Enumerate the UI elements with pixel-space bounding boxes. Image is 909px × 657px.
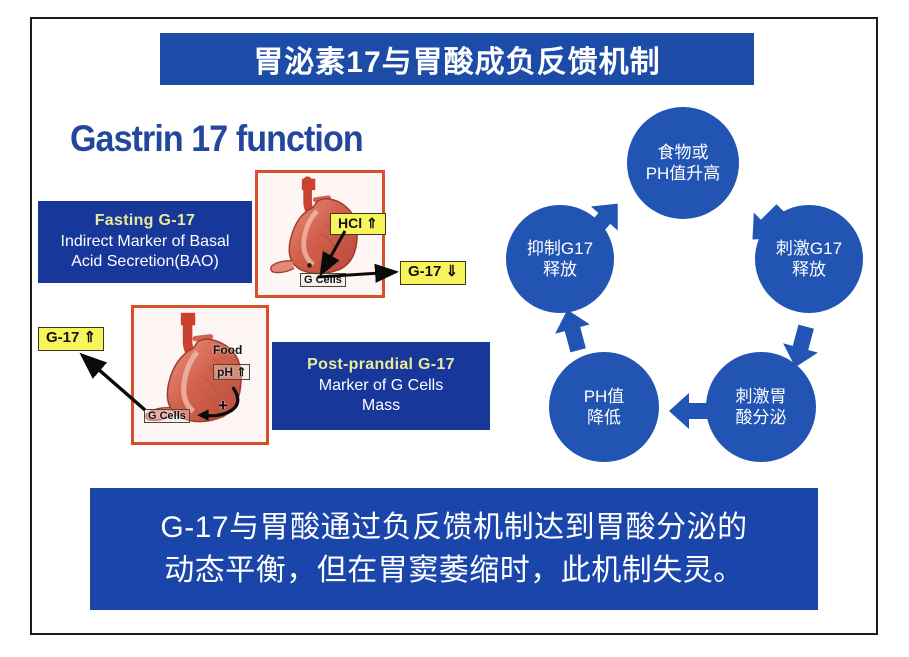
cycle-node-food-line1: 食物或 bbox=[658, 142, 709, 163]
stomach-diagram-postprandial: Food pH ⇑ G Cells + bbox=[131, 305, 269, 445]
cycle-node-inhibit-g17-line2: 释放 bbox=[543, 259, 577, 280]
cycle-node-stimulate-acid-line1: 刺激胃 bbox=[736, 386, 787, 407]
postprandial-g17-line1: Marker of G Cells bbox=[319, 376, 443, 396]
cycle-arrow-ph-to-inhibit-icon bbox=[545, 303, 601, 359]
fasting-g17-line1: Indirect Marker of Basal bbox=[61, 232, 230, 252]
hcl-callout-tag: HCl ⇑ bbox=[330, 213, 386, 235]
cycle-node-ph-drop: PH值 降低 bbox=[549, 352, 659, 462]
postprandial-g17-line2: Mass bbox=[362, 396, 400, 416]
cycle-arrow-stimulate-to-acid-icon bbox=[773, 318, 829, 374]
postprandial-g17-box: Post-prandial G-17 Marker of G Cells Mas… bbox=[272, 342, 490, 430]
cycle-arrow-food-to-stimulate-icon bbox=[740, 196, 796, 252]
cycle-node-stimulate-acid-line2: 酸分泌 bbox=[736, 407, 787, 428]
section-heading: Gastrin 17 function bbox=[70, 118, 363, 160]
conclusion-line2: 动态平衡，但在胃窦萎缩时，此机制失灵。 bbox=[164, 549, 744, 593]
fasting-g17-title: Fasting G-17 bbox=[95, 211, 196, 231]
cycle-node-food-line2: PH值升高 bbox=[646, 163, 721, 184]
cycle-arrow-acid-to-ph-icon bbox=[663, 383, 719, 439]
conclusion-banner: G-17与胃酸通过负反馈机制达到胃酸分泌的 动态平衡，但在胃窦萎缩时，此机制失灵… bbox=[90, 488, 818, 610]
cycle-node-stimulate-g17-line2: 释放 bbox=[792, 259, 826, 280]
postprandial-g17-title: Post-prandial G-17 bbox=[307, 355, 455, 375]
cycle-node-food: 食物或 PH值升高 bbox=[627, 107, 739, 219]
slide-canvas: 胃泌素17与胃酸成负反馈机制 Gastrin 17 function Fasti… bbox=[0, 0, 909, 657]
g17-decrease-tag: G-17 ⇓ bbox=[400, 261, 466, 285]
fasting-g17-box: Fasting G-17 Indirect Marker of Basal Ac… bbox=[38, 201, 252, 283]
fasting-g17-line2: Acid Secretion(BAO) bbox=[71, 252, 219, 272]
title-banner: 胃泌素17与胃酸成负反馈机制 bbox=[160, 33, 754, 85]
plus-sign-label: + bbox=[218, 396, 228, 416]
conclusion-line1: G-17与胃酸通过负反馈机制达到胃酸分泌的 bbox=[160, 506, 747, 550]
page-title: 胃泌素17与胃酸成负反馈机制 bbox=[253, 37, 660, 81]
cycle-arrow-inhibit-to-food-icon bbox=[575, 192, 631, 248]
gcells-label-postprandial: G Cells bbox=[144, 409, 190, 423]
cycle-node-ph-drop-line2: 降低 bbox=[587, 407, 621, 428]
gcells-label-fasting: G Cells bbox=[300, 273, 346, 287]
g17-increase-tag: G-17 ⇑ bbox=[38, 327, 104, 351]
ph-label: pH ⇑ bbox=[213, 364, 250, 380]
cycle-node-ph-drop-line1: PH值 bbox=[584, 386, 625, 407]
food-label: Food bbox=[213, 343, 242, 357]
